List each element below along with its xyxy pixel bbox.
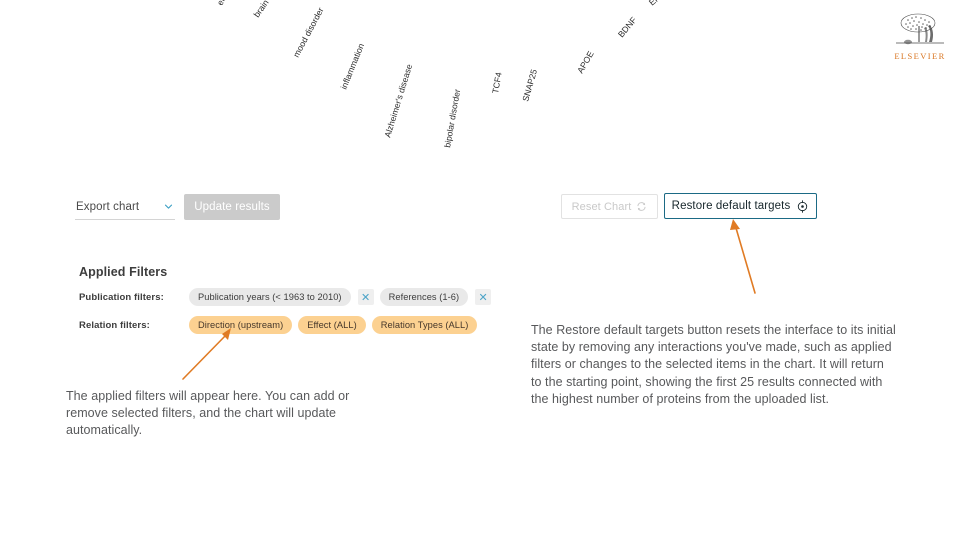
remove-references-icon[interactable]: ✕ — [475, 289, 491, 305]
chart-label-snap25: SNAP25 — [520, 68, 539, 103]
reset-chart-label: Reset Chart — [572, 201, 632, 213]
relation-filters-row: Relation filters: Direction (upstream) E… — [79, 315, 491, 335]
filter-chip-direction[interactable]: Direction (upstream) — [189, 316, 292, 334]
chart-label-mood-disorder: mood disorder — [291, 6, 326, 59]
elsevier-logo: ELSEVIER — [888, 12, 952, 64]
filter-chip-references[interactable]: References (1-6) — [380, 288, 469, 306]
chart-label-inflammation: inflammation — [339, 42, 367, 91]
elsevier-tree-icon — [888, 12, 952, 50]
chart-label-tcf4: TCF4 — [490, 71, 504, 94]
remove-publication-years-icon[interactable]: ✕ — [358, 289, 374, 305]
chart-label-brain-damage: brain damage — [251, 0, 289, 19]
chart-label-alzheimers: Alzheimer's disease — [382, 63, 414, 139]
publication-filters-row: Publication filters: Publication years (… — [79, 287, 491, 307]
chord-chart[interactable]: er brain damage mood disorder inflammati… — [150, 0, 750, 270]
filter-chip-relation-types[interactable]: Relation Types (ALL) — [372, 316, 478, 334]
chart-label-apoe: APOE — [575, 49, 596, 75]
export-chart-select[interactable]: Export chart — [75, 196, 175, 222]
update-results-button[interactable]: Update results — [184, 194, 280, 220]
publication-filters-label: Publication filters: — [79, 292, 189, 303]
restore-default-targets-label: Restore default targets — [672, 200, 791, 212]
applied-filters-panel: Applied Filters Publication filters: Pub… — [79, 265, 491, 343]
filter-chip-effect[interactable]: Effect (ALL) — [298, 316, 366, 334]
elsevier-wordmark: ELSEVIER — [888, 51, 952, 61]
chart-label-erbb4: ERBB4 — [647, 0, 675, 8]
reset-chart-button[interactable]: Reset Chart — [561, 194, 658, 219]
annotation-note-restore-targets: The Restore default targets button reset… — [531, 322, 896, 408]
filter-chip-publication-years[interactable]: Publication years (< 1963 to 2010) — [189, 288, 351, 306]
annotation-note-applied-filters: The applied filters will appear here. Yo… — [66, 388, 384, 440]
relation-filters-label: Relation filters: — [79, 320, 189, 331]
target-crosshair-icon — [796, 200, 809, 213]
refresh-icon — [636, 201, 647, 212]
chart-label-er: er — [215, 0, 227, 7]
chart-label-bdnf: BDNF — [616, 15, 639, 39]
export-chart-selected-value: Export chart — [76, 201, 139, 213]
chevron-down-icon — [164, 202, 173, 211]
app-screenshot: er brain damage mood disorder inflammati… — [0, 0, 960, 540]
applied-filters-title: Applied Filters — [79, 265, 491, 279]
chart-label-bipolar: bipolar disorder — [442, 88, 462, 148]
annotation-arrow-to-restore-targets — [725, 215, 770, 300]
restore-default-targets-button[interactable]: Restore default targets — [664, 193, 817, 219]
